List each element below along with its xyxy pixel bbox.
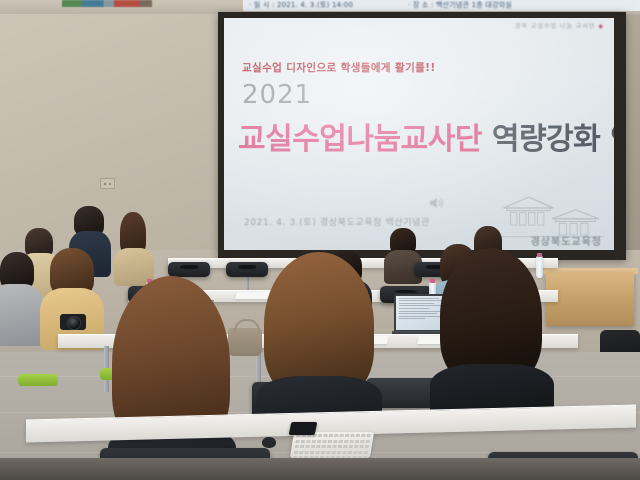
chair-back	[168, 262, 210, 277]
podium	[546, 272, 634, 326]
seminar-room-photo: · 일 시 : 2021. 4. 3.(토) 14:00 · 장 소 : 백산기…	[0, 0, 640, 480]
torso	[0, 284, 44, 346]
desk-front-edge	[0, 458, 640, 480]
slide-org-logo-text: 경상북도교육청	[531, 233, 602, 248]
camera	[60, 314, 86, 330]
keyboard[interactable]	[290, 432, 374, 458]
top-banner-right-text: · 장 소 : 백산기념관 1층 대강의실	[408, 0, 512, 11]
slide-header-text: 경북 교실수업 나눔 교사단 ◆	[515, 21, 604, 30]
chair-seat	[18, 374, 58, 386]
mobile-phone[interactable]	[289, 422, 318, 435]
top-banner: · 일 시 : 2021. 4. 3.(토) 14:00 · 장 소 : 백산기…	[243, 0, 640, 11]
top-banner-left-text: · 일 시 : 2021. 4. 3.(토) 14:00	[249, 0, 353, 11]
chair-back	[226, 262, 268, 277]
slide-subtitle: 교실수업 디자인으로 학생들에게 활기를!!	[242, 60, 436, 75]
slide-footer: 2021. 4. 3.(토) 경상북도교육청 백산기념관	[244, 215, 430, 228]
handbag	[228, 328, 262, 356]
slide-header-mark-icon: ◆	[598, 23, 604, 30]
slide-title: 교실수업나눔교사단 역량강화 연수	[238, 114, 614, 158]
slide-title-primary: 교실수업나눔교사단	[238, 122, 482, 157]
color-strip-decor	[62, 0, 152, 7]
wall-outlet	[100, 178, 115, 189]
water-bottle	[536, 256, 543, 278]
projection-screen-frame: 경북 교실수업 나눔 교사단 ◆ 교실수업 디자인으로 학생들에게 활기를!! …	[218, 12, 626, 260]
slide-year: 2021	[242, 80, 312, 110]
mouse[interactable]	[262, 437, 276, 448]
projection-screen: 경북 교실수업 나눔 교사단 ◆ 교실수업 디자인으로 학생들에게 활기를!! …	[224, 18, 614, 250]
speaker-icon	[427, 194, 445, 212]
slide-title-secondary: 역량강화 연수	[492, 122, 614, 157]
laptop-screen	[396, 296, 446, 330]
wall-left	[0, 14, 222, 264]
